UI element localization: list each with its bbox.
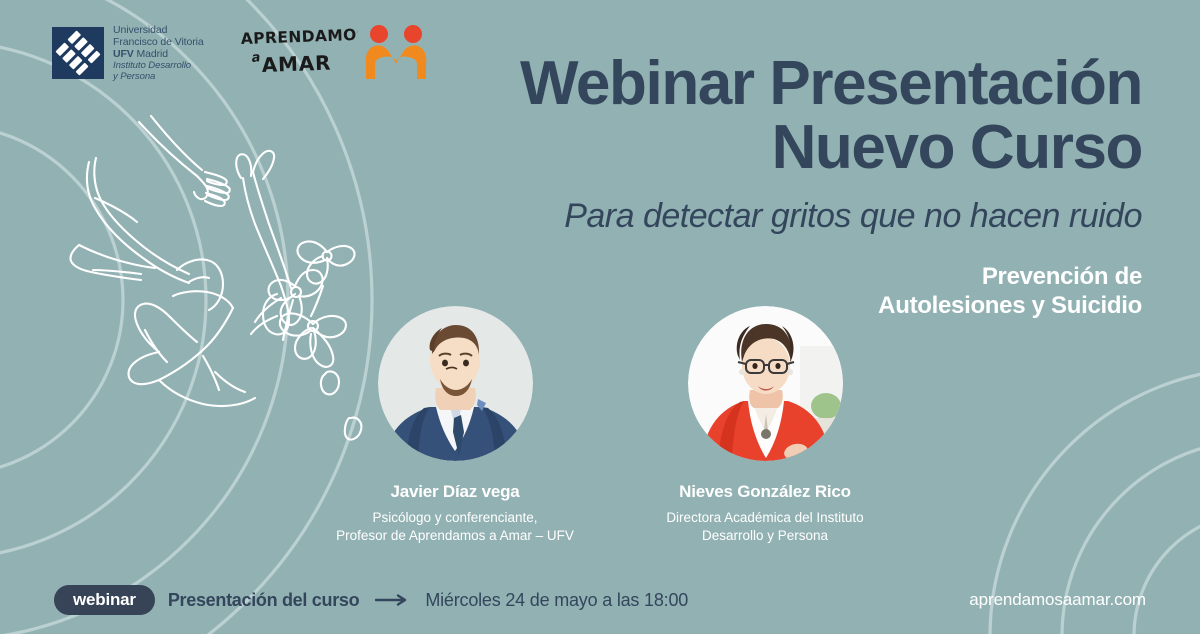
speakers-row: Javier Díaz vega Psicólogo y conferencia… bbox=[330, 306, 890, 545]
ufv-line-2: Francisco de Vitoria bbox=[113, 36, 204, 48]
arrow-right-icon bbox=[375, 594, 409, 606]
webinar-poster: Universidad Francisco de Vitoria UFV Mad… bbox=[0, 0, 1200, 634]
avatar bbox=[378, 306, 533, 461]
aprendamos-a-amar-wordmark-icon: APRENDAMOS a AMAR bbox=[240, 22, 358, 84]
speaker-role-line-1: Psicólogo y conferenciante, bbox=[372, 510, 537, 525]
title-block: Webinar Presentación Nuevo Curso Para de… bbox=[382, 52, 1142, 320]
kicker-line-1: Prevención de bbox=[982, 263, 1142, 290]
ufv-logo: Universidad Francisco de Vitoria UFV Mad… bbox=[52, 24, 204, 83]
ufv-line-1: Universidad bbox=[113, 24, 204, 36]
ufv-line-3: UFV Madrid bbox=[113, 48, 204, 60]
avatar bbox=[688, 306, 843, 461]
main-title-line-1: Webinar Presentación bbox=[382, 52, 1142, 116]
speaker-card: Javier Díaz vega Psicólogo y conferencia… bbox=[330, 306, 580, 545]
speaker-role-line-2: Desarrollo y Persona bbox=[702, 528, 828, 543]
main-title-line-2: Nuevo Curso bbox=[382, 116, 1142, 180]
arrow-right-glyph bbox=[375, 594, 409, 606]
man-in-blue-suit-portrait bbox=[378, 306, 533, 461]
footer-website[interactable]: aprendamosaamar.com bbox=[969, 590, 1146, 610]
subtitle: Para detectar gritos que no hacen ruido bbox=[382, 197, 1142, 236]
kicker-line-2: Autolesiones y Suicidio bbox=[878, 292, 1142, 319]
footer-course-label: Presentación del curso bbox=[168, 590, 359, 611]
speaker-role: Psicólogo y conferenciante, Profesor de … bbox=[330, 509, 580, 545]
footer-left-group: webinar Presentación del curso Miércoles… bbox=[54, 585, 688, 615]
webinar-badge: webinar bbox=[54, 585, 155, 615]
speaker-name: Javier Díaz vega bbox=[330, 482, 580, 502]
footer-bar: webinar Presentación del curso Miércoles… bbox=[0, 583, 1200, 617]
woman-in-red-blazer-portrait bbox=[688, 306, 843, 461]
svg-text:AMAR: AMAR bbox=[261, 51, 331, 77]
speaker-name: Nieves González Rico bbox=[640, 482, 890, 502]
footer-date: Miércoles 24 de mayo a las 18:00 bbox=[425, 590, 688, 611]
ufv-acronym: UFV bbox=[113, 48, 134, 60]
speaker-role-line-2: Profesor de Aprendamos a Amar – UFV bbox=[336, 528, 574, 543]
ufv-line-5: y Persona bbox=[113, 71, 204, 82]
speaker-role: Directora Académica del Instituto Desarr… bbox=[640, 509, 890, 545]
ufv-emblem-icon bbox=[52, 27, 104, 79]
speaker-role-line-1: Directora Académica del Instituto bbox=[666, 510, 863, 525]
ufv-city: Madrid bbox=[137, 48, 169, 60]
logo-row: Universidad Francisco de Vitoria UFV Mad… bbox=[52, 22, 430, 84]
svg-text:APRENDAMOS: APRENDAMOS bbox=[240, 26, 357, 48]
ufv-logo-text: Universidad Francisco de Vitoria UFV Mad… bbox=[113, 24, 204, 83]
svg-text:a: a bbox=[250, 50, 260, 66]
ufv-line-4: Instituto Desarrollo bbox=[113, 60, 204, 71]
speaker-card: Nieves González Rico Directora Académica… bbox=[640, 306, 890, 545]
